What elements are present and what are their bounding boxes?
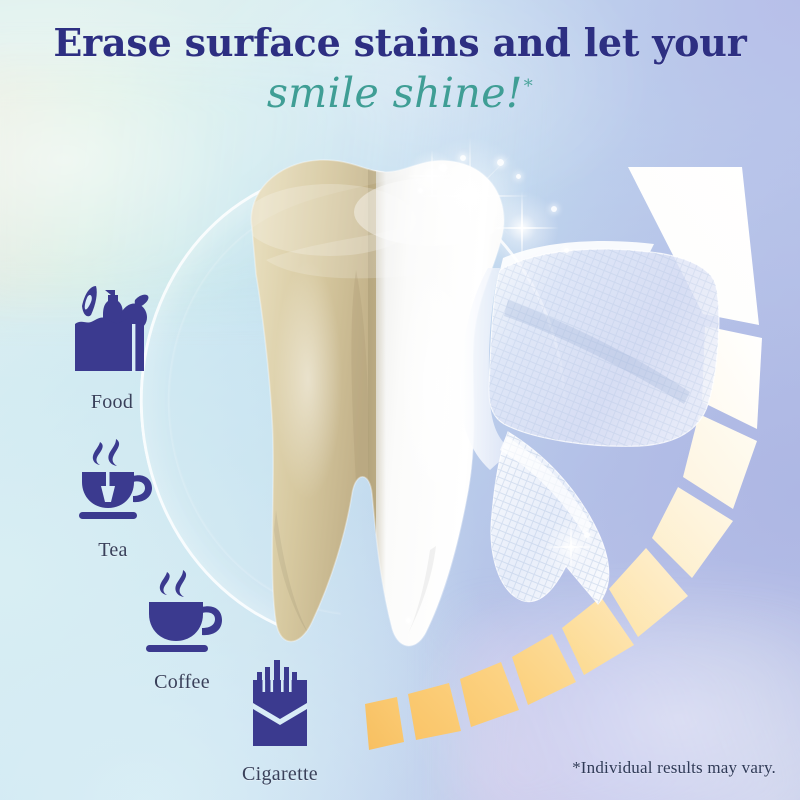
headline-asterisk: * (524, 76, 533, 97)
teacup-icon (48, 438, 178, 529)
stain-source-label: Tea (48, 539, 178, 562)
headline-line-2-text: smile shine! (267, 69, 523, 117)
stain-source-label: Food (42, 391, 182, 414)
coffee-cup-icon (112, 570, 252, 661)
headline-line-2: smile shine!* (267, 69, 533, 118)
sparkle-dot (460, 155, 466, 161)
stain-source-tea: Tea (48, 438, 178, 562)
sparkle-dot (584, 532, 590, 538)
tooth-highlight-left (274, 260, 342, 500)
sparkle-dot (516, 174, 521, 179)
sparkle-dot (439, 164, 447, 172)
grocery-bag-icon (42, 284, 182, 381)
sparkle-dot (497, 159, 504, 166)
sparkle-dot (551, 206, 557, 212)
sparkle-dot (418, 188, 423, 193)
headline-line-1: Erase surface stains and let your (0, 22, 800, 65)
stain-source-food: Food (42, 284, 182, 414)
stain-source-cigarette: Cigarette (192, 660, 368, 786)
poster-canvas: Erase surface stains and let your smile … (0, 0, 800, 800)
sparkle-dot (406, 618, 411, 623)
headline-block: Erase surface stains and let your smile … (0, 22, 800, 118)
footnote-disclaimer: *Individual results may vary. (572, 758, 776, 778)
sparkle-dot (564, 248, 569, 253)
cigarette-pack-icon (192, 660, 368, 753)
stain-source-label: Cigarette (192, 763, 368, 786)
